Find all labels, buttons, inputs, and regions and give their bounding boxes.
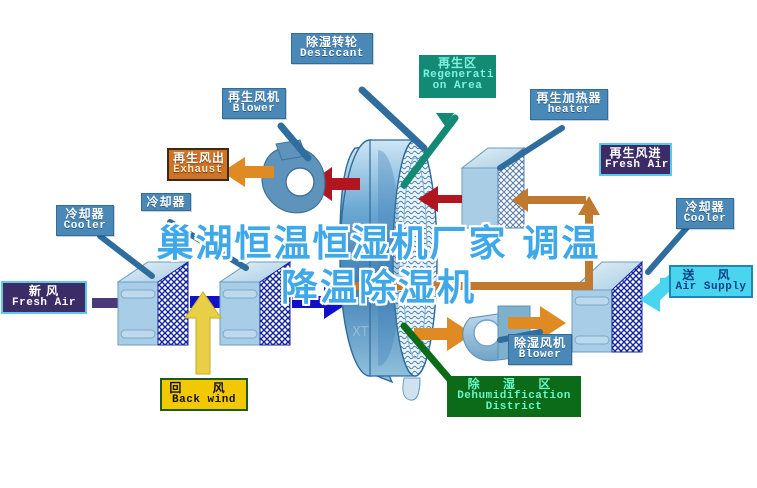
label-regeneration-blower-cn: 再生风机 [227, 91, 281, 104]
label-desiccant-en: Desiccant [296, 49, 368, 61]
label-regeneration-area[interactable]: 再生区 Regenerati on Area [419, 55, 496, 98]
label-dehumidification-blower-en: Blower [513, 350, 567, 362]
label-regeneration-area-tail [436, 113, 454, 126]
label-dehumidification-district[interactable]: 除 湿 区 Dehumidification District [447, 376, 581, 417]
label-back-wind-en: Back wind [166, 395, 242, 407]
label-regeneration-fresh-air-en: Fresh Air [605, 160, 666, 172]
label-cooler-left-cn: 冷却器 [61, 208, 109, 221]
label-cooler-mid[interactable]: 冷却器 [141, 193, 191, 211]
label-exhaust[interactable]: 再生风出 Exhaust [167, 148, 229, 181]
label-regeneration-area-cn: 再生区 [423, 57, 492, 70]
label-dehumidification-district-cn: 除 湿 区 [451, 378, 577, 391]
label-air-supply-en: Air Supply [675, 282, 747, 294]
cooler-unit-3 [572, 262, 642, 352]
label-dehumidification-district-en2: District [451, 402, 577, 414]
label-regeneration-fresh-air-cn: 再生风进 [605, 147, 666, 160]
label-air-supply-cn: 送 风 [675, 269, 747, 282]
label-back-wind[interactable]: 回 风 Back wind [160, 378, 248, 411]
label-air-supply[interactable]: 送 风 Air Supply [669, 265, 753, 298]
wheel-face-text: XT [352, 325, 369, 340]
label-back-wind-cn: 回 风 [166, 382, 242, 395]
label-cooler-right[interactable]: 冷却器 Cooler [676, 198, 734, 229]
label-cooler-right-cn: 冷却器 [681, 201, 729, 214]
label-fresh-air[interactable]: 新 风 Fresh Air [1, 281, 87, 314]
label-fresh-air-cn: 新 风 [7, 285, 81, 298]
label-regeneration-area-en2: on Area [423, 81, 492, 93]
cooler-unit-2 [220, 262, 290, 345]
label-regeneration-blower[interactable]: 再生风机 Blower [222, 88, 286, 119]
label-regeneration-blower-en: Blower [227, 104, 281, 116]
label-cooler-left-en: Cooler [61, 221, 109, 233]
dehumidifier-schematic-diagram: XT [0, 0, 757, 488]
diagram-artwork: XT [0, 0, 757, 488]
label-regeneration-heater-en: heater [535, 105, 603, 117]
label-dehumidification-blower[interactable]: 除湿风机 Blower [508, 334, 572, 365]
label-regeneration-fresh-air[interactable]: 再生风进 Fresh Air [599, 143, 672, 176]
label-cooler-left[interactable]: 冷却器 Cooler [56, 205, 114, 236]
label-dehumidification-blower-cn: 除湿风机 [513, 337, 567, 350]
label-regeneration-heater-cn: 再生加热器 [535, 92, 603, 105]
label-cooler-mid-cn: 冷却器 [146, 196, 186, 209]
label-exhaust-cn: 再生风出 [173, 152, 223, 165]
label-fresh-air-en: Fresh Air [7, 298, 81, 310]
label-desiccant[interactable]: 除湿转轮 Desiccant [291, 33, 373, 64]
label-exhaust-en: Exhaust [173, 165, 223, 177]
label-desiccant-cn: 除湿转轮 [296, 36, 368, 49]
label-cooler-right-en: Cooler [681, 214, 729, 226]
label-regeneration-heater[interactable]: 再生加热器 heater [530, 89, 608, 120]
